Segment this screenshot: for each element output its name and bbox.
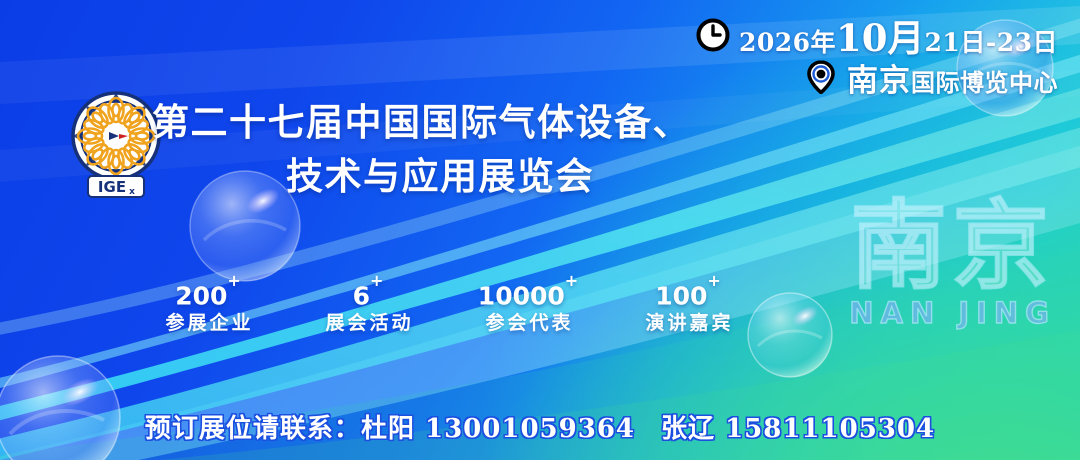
stat-number: 200+ xyxy=(128,276,288,310)
contact-person1-name: 杜阳 xyxy=(361,414,425,444)
stat-number-plus: + xyxy=(707,271,720,290)
stat-number: 100+ xyxy=(608,276,768,310)
contact-person1-phone[interactable]: 13001059364 xyxy=(425,414,635,444)
logo-badge-sub: x xyxy=(129,187,135,197)
event-venue: 南京国际博览中心 xyxy=(847,55,1058,100)
stat-number-plus: + xyxy=(227,271,240,290)
stat-number-value: 200 xyxy=(175,281,227,310)
title-line-1: 第二十七届中国国际气体设备、 xyxy=(152,96,692,150)
event-date-month: 10月 xyxy=(836,16,925,60)
watermark-cn: 南京 xyxy=(849,196,1056,296)
stat-label: 参会代表 xyxy=(448,310,608,336)
watermark: 南京 NAN JING xyxy=(849,196,1056,330)
event-venue-row: 南京国际博览中心 xyxy=(696,56,1058,98)
event-venue-rest: 国际博览中心 xyxy=(911,68,1058,97)
title-line-2: 技术与应用展览会 xyxy=(152,150,692,204)
stat-number: 10000+ xyxy=(448,276,608,310)
stat-item: 6+ 展会活动 xyxy=(288,276,448,336)
event-date-row: 2026年10月21日-23日 xyxy=(696,14,1058,56)
stat-item: 200+ 参展企业 xyxy=(128,276,288,336)
stat-label: 展会活动 xyxy=(288,310,448,336)
page-title: 第二十七届中国国际气体设备、 技术与应用展览会 xyxy=(152,96,692,204)
event-date-year: 2026年 xyxy=(739,28,836,57)
contact-prefix: 预订展位请联系： xyxy=(145,414,361,444)
stat-item: 10000+ 参会代表 xyxy=(448,276,608,336)
stat-number-plus: + xyxy=(370,271,383,290)
stat-number-value: 100 xyxy=(655,281,707,310)
contact-person2-name: 张辽 xyxy=(661,414,725,444)
contact-person2-phone[interactable]: 15811105304 xyxy=(725,414,935,444)
stat-number-value: 6 xyxy=(353,281,370,310)
stats-row: 200+ 参展企业 6+ 展会活动 10000+ 参会代表 100+ 演讲嘉宾 xyxy=(128,276,768,336)
stat-item: 100+ 演讲嘉宾 xyxy=(608,276,768,336)
logo-badge-text: IGE xyxy=(98,178,126,196)
stat-number: 6+ xyxy=(288,276,448,310)
event-banner: 南京 NAN JING xyxy=(0,0,1080,460)
contact-line: 预订展位请联系：杜阳 13001059364张辽 15811105304 xyxy=(0,408,1080,445)
stat-number-value: 10000 xyxy=(478,281,565,310)
location-pin-icon xyxy=(804,60,838,94)
event-venue-city: 南京 xyxy=(847,63,911,99)
stat-label: 演讲嘉宾 xyxy=(608,310,768,336)
event-meta: 2026年10月21日-23日 南京国际博览中心 xyxy=(696,14,1058,98)
stat-number-plus: + xyxy=(565,271,578,290)
clock-icon xyxy=(696,18,730,52)
watermark-en: NAN JING xyxy=(849,296,1056,330)
event-date-days: 21日-23日 xyxy=(925,28,1058,57)
stat-label: 参展企业 xyxy=(128,310,288,336)
